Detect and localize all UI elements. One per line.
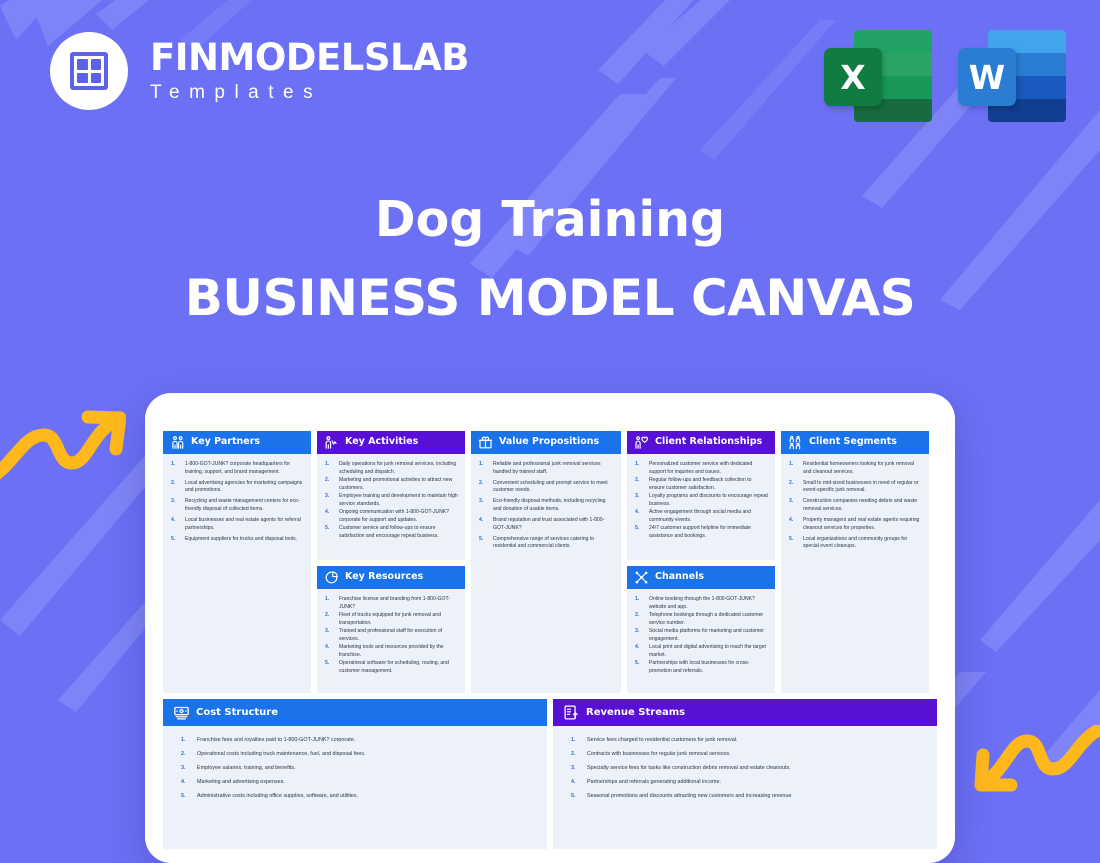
- list-item: Telephone bookings through a dedicated c…: [632, 612, 768, 627]
- list-item: Local businesses and real estate agents …: [168, 517, 304, 532]
- card-title: Client Segments: [809, 437, 897, 448]
- card-header-channels: Channels: [627, 566, 775, 589]
- excel-icon: X: [824, 30, 932, 122]
- people-group-icon: [788, 435, 803, 450]
- file-format-badges: X W: [824, 30, 1066, 122]
- list-item: Reliable and professional junk removal s…: [476, 461, 614, 476]
- card-client-relationships[interactable]: Client Relationships Personalized custom…: [627, 431, 775, 560]
- list-item: 24/7 customer support helpline for immed…: [632, 525, 768, 540]
- list-item: Personalized customer service with dedic…: [632, 461, 768, 476]
- card-value-propositions[interactable]: Value Propositions Reliable and professi…: [471, 431, 621, 693]
- list-item: Equipment suppliers for trucks and dispo…: [168, 536, 304, 544]
- arrow-bottom-right-icon: [967, 725, 1100, 815]
- list-item: Social media platforms for marketing and…: [632, 628, 768, 643]
- list-item: Employee training and development to mai…: [322, 493, 458, 508]
- list-item: Fleet of trucks equipped for junk remova…: [322, 612, 458, 627]
- card-cost-structure[interactable]: Cost Structure Franchise fees and royalt…: [163, 699, 547, 849]
- list-item: Administrative costs including office su…: [177, 793, 533, 801]
- list-item: Brand reputation and trust associated wi…: [476, 517, 614, 532]
- card-client-segments[interactable]: Client Segments Residential homeowners l…: [781, 431, 929, 693]
- list-cost-structure: Franchise fees and royalties paid to 1-8…: [177, 737, 533, 801]
- card-title: Client Relationships: [655, 437, 762, 448]
- list-item: Eco-friendly disposal methods, including…: [476, 498, 614, 513]
- card-title: Value Propositions: [499, 437, 599, 448]
- card-header-value-propositions: Value Propositions: [471, 431, 621, 454]
- list-revenue-streams: Service fees charged to residential cust…: [567, 737, 923, 801]
- list-item: Operational costs including truck mainte…: [177, 751, 533, 759]
- list-item: Employee salaries, training, and benefit…: [177, 765, 533, 773]
- canvas-bottom-row: Cost Structure Franchise fees and royalt…: [163, 699, 937, 849]
- excel-icon-letter: X: [824, 48, 882, 106]
- list-key-resources: Franchise license and branding from 1-80…: [322, 596, 458, 675]
- list-channels: Online booking through the 1-800-GOT-JUN…: [632, 596, 768, 675]
- list-item: Daily operations for junk removal servic…: [322, 461, 458, 476]
- list-item: Property managers and real estate agents…: [786, 517, 922, 532]
- card-header-key-resources: Key Resources: [317, 566, 465, 589]
- pie-chart-icon: [324, 570, 339, 585]
- list-item: Service fees charged to residential cust…: [567, 737, 923, 745]
- money-bill-icon: [173, 704, 190, 721]
- card-channels[interactable]: Channels Online booking through the 1-80…: [627, 566, 775, 693]
- list-item: Comprehensive range of services catering…: [476, 536, 614, 551]
- list-item: Contracts with businesses for regular ju…: [567, 751, 923, 759]
- list-item: Specialty service fees for tasks like co…: [567, 765, 923, 773]
- card-title: Key Resources: [345, 572, 423, 583]
- list-item: Online booking through the 1-800-GOT-JUN…: [632, 596, 768, 611]
- list-item: Franchise fees and royalties paid to 1-8…: [177, 737, 533, 745]
- card-title: Key Activities: [345, 437, 418, 448]
- card-title: Revenue Streams: [586, 707, 685, 718]
- list-item: Construction companies needing debris an…: [786, 498, 922, 513]
- word-icon: W: [958, 30, 1066, 122]
- list-item: Marketing and promotional activities to …: [322, 477, 458, 492]
- list-item: Small to mid-sized businesses in need of…: [786, 480, 922, 495]
- list-item: Franchise license and branding from 1-80…: [322, 596, 458, 611]
- page-header: FINMODELSLAB Templates X W: [0, 0, 1100, 150]
- list-key-partners: 1-800-GOT-JUNK? corporate headquarters f…: [168, 461, 304, 543]
- arrow-top-left-icon: [0, 405, 126, 485]
- card-revenue-streams[interactable]: Revenue Streams Service fees charged to …: [553, 699, 937, 849]
- card-header-client-segments: Client Segments: [781, 431, 929, 454]
- list-item: Marketing and advertising expenses.: [177, 779, 533, 787]
- list-item: Regular follow-ups and feedback collecti…: [632, 477, 768, 492]
- list-item: Seasonal promotions and discounts attrac…: [567, 793, 923, 801]
- chart-arrow-icon: [563, 704, 580, 721]
- card-header-client-relationships: Client Relationships: [627, 431, 775, 454]
- brand-logo[interactable]: FINMODELSLAB Templates: [50, 32, 469, 110]
- list-item: Active engagement through social media a…: [632, 509, 768, 524]
- card-key-partners[interactable]: Key Partners 1-800-GOT-JUNK? corporate h…: [163, 431, 311, 693]
- card-title: Channels: [655, 572, 704, 583]
- card-title: Cost Structure: [196, 707, 278, 718]
- list-item: Customer service and follow-ups to ensur…: [322, 525, 458, 540]
- card-key-resources[interactable]: Key Resources Franchise license and bran…: [317, 566, 465, 693]
- list-item: Marketing tools and resources provided b…: [322, 644, 458, 659]
- brand-tagline: Templates: [150, 82, 469, 104]
- list-item: Local organizations and community groups…: [786, 536, 922, 551]
- list-client-segments: Residential homeowners looking for junk …: [786, 461, 922, 551]
- page-subtitle: BUSINESS MODEL CANVAS: [0, 269, 1100, 327]
- list-item: 1-800-GOT-JUNK? corporate headquarters f…: [168, 461, 304, 476]
- card-title: Key Partners: [191, 437, 260, 448]
- brand-name: FINMODELSLAB: [150, 39, 469, 76]
- two-people-icon: [170, 435, 185, 450]
- title-block: Dog Training BUSINESS MODEL CANVAS: [0, 193, 1100, 327]
- card-header-revenue-streams: Revenue Streams: [553, 699, 937, 726]
- word-icon-letter: W: [958, 48, 1016, 106]
- list-key-activities: Daily operations for junk removal servic…: [322, 461, 458, 540]
- card-header-cost-structure: Cost Structure: [163, 699, 547, 726]
- page-title: Dog Training: [0, 193, 1100, 247]
- list-item: Operational software for scheduling, rou…: [322, 660, 458, 675]
- list-item: Trained and professional staff for execu…: [322, 628, 458, 643]
- list-item: Loyalty programs and discounts to encour…: [632, 493, 768, 508]
- card-header-key-partners: Key Partners: [163, 431, 311, 454]
- list-item: Partnerships with local businesses for c…: [632, 660, 768, 675]
- list-item: Local advertising agencies for marketing…: [168, 480, 304, 495]
- list-value-propositions: Reliable and professional junk removal s…: [476, 461, 614, 551]
- list-item: Partnerships and referrals generating ad…: [567, 779, 923, 787]
- card-header-key-activities: Key Activities: [317, 431, 465, 454]
- list-item: Residential homeowners looking for junk …: [786, 461, 922, 476]
- person-activity-icon: [324, 435, 339, 450]
- card-key-activities[interactable]: Key Activities Daily operations for junk…: [317, 431, 465, 560]
- network-nodes-icon: [634, 570, 649, 585]
- list-item: Convenient scheduling and prompt service…: [476, 480, 614, 495]
- device-frame: Key Partners 1-800-GOT-JUNK? corporate h…: [145, 393, 955, 863]
- person-heart-icon: [634, 435, 649, 450]
- gift-icon: [478, 435, 493, 450]
- grid-squares-icon: [50, 32, 128, 110]
- list-client-relationships: Personalized customer service with dedic…: [632, 461, 768, 540]
- list-item: Local print and digital advertising to r…: [632, 644, 768, 659]
- canvas-top-row: Key Partners 1-800-GOT-JUNK? corporate h…: [163, 431, 937, 693]
- list-item: Recycling and waste management centers f…: [168, 498, 304, 513]
- list-item: Ongoing communication with 1-800-GOT-JUN…: [322, 509, 458, 524]
